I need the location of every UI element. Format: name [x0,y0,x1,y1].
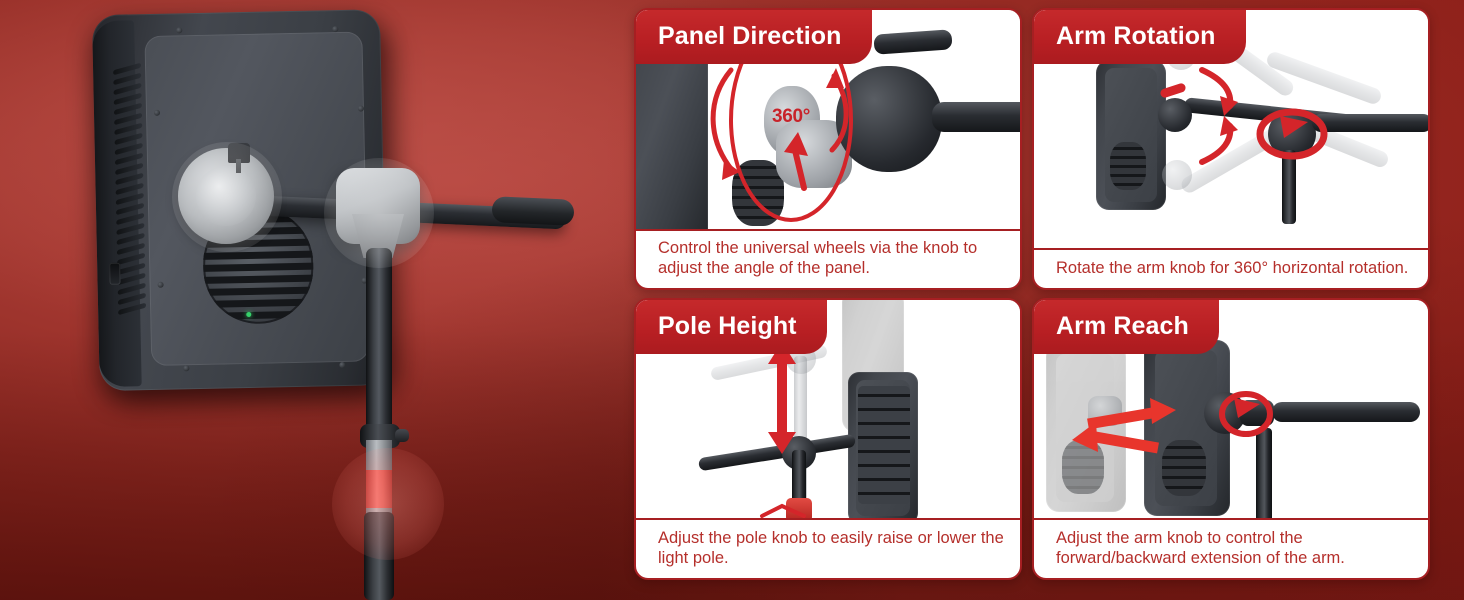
card-title-tab: Arm Reach [1032,298,1219,354]
panel-mount-hub [196,166,256,226]
panel-port [109,263,120,285]
panel-screw [154,110,160,116]
card-caption: Rotate the arm knob for 360° horizontal … [1034,250,1428,288]
feature-card-pole-height[interactable]: Pole Height [634,298,1022,580]
panel-mount-knob [228,143,250,163]
support-arm-end-cap [491,196,574,226]
panel-screw [183,365,189,371]
feature-card-grid: Panel Direction [634,8,1440,592]
panel-screw [339,362,345,368]
card-title: Panel Direction [658,24,842,49]
pole-highlight-band [366,470,392,508]
feature-card-panel-direction[interactable]: Panel Direction [634,8,1022,290]
card-title-tab: Arm Rotation [1032,8,1246,64]
card-title-tab: Pole Height [634,298,827,354]
panel-screw [358,106,364,112]
feature-card-arm-rotation[interactable]: Arm Rotation [1032,8,1430,290]
panel-screw [158,282,164,288]
card-title: Pole Height [658,314,797,339]
card-title-tab: Panel Direction [634,8,872,64]
infographic-stage: Panel Direction [0,0,1464,600]
rotation-degree-label: 360° [772,106,810,128]
hero-product-image [0,0,640,600]
card-caption: Adjust the arm knob to control the forwa… [1034,520,1428,578]
card-caption: Control the universal wheels via the kno… [636,231,1020,288]
card-title: Arm Rotation [1056,24,1216,49]
pole-lower-section [364,512,394,600]
panel-screw [176,27,182,33]
feature-card-arm-reach[interactable]: Arm Reach [1032,298,1430,580]
status-led [246,312,251,317]
pole-upper-section [366,248,392,438]
panel-screw [332,26,338,32]
card-caption: Adjust the pole knob to easily raise or … [636,520,1020,578]
card-title: Arm Reach [1056,314,1189,339]
